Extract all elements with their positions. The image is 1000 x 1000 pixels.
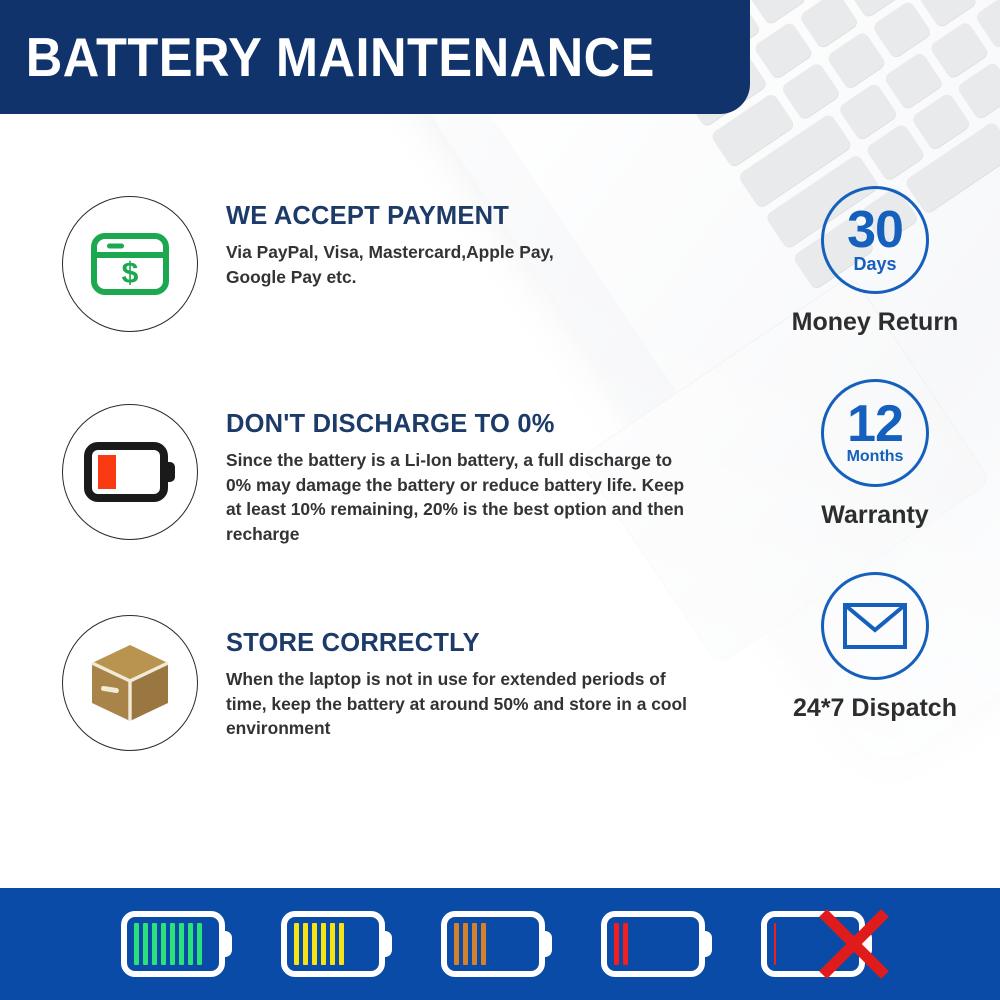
- badge-number: 12: [847, 401, 903, 448]
- feature-title: DON'T DISCHARGE TO 0%: [226, 410, 696, 439]
- battery-terminal: [379, 931, 392, 957]
- battery-low-icon: [601, 911, 719, 977]
- feature-title: WE ACCEPT PAYMENT: [226, 202, 606, 231]
- battery-shell: [441, 911, 545, 977]
- feature-description: Since the battery is a Li-Ion battery, a…: [226, 448, 696, 547]
- battery-high-icon: [281, 911, 399, 977]
- battery-bar: [463, 923, 468, 965]
- battery-critical-icon: [761, 911, 879, 977]
- badge-label: Warranty: [750, 501, 1000, 530]
- badge-circle-dispatch: [821, 572, 929, 680]
- battery-bar: [303, 923, 308, 965]
- battery-terminal: [699, 931, 712, 957]
- payment-icon-circle: $: [62, 196, 198, 332]
- feature-list: $ WE ACCEPT PAYMENT Via PayPal, Visa, Ma…: [0, 130, 700, 751]
- battery-terminal: [219, 931, 232, 957]
- battery-bar: [614, 923, 619, 965]
- battery-bar: [454, 923, 459, 965]
- feature-description: Via PayPal, Visa, Mastercard,Apple Pay, …: [226, 240, 606, 289]
- battery-shell: [281, 911, 385, 977]
- storage-icon-circle: [62, 615, 198, 751]
- battery-bar: [188, 923, 193, 965]
- battery-bar: [161, 923, 166, 965]
- battery-bar: [481, 923, 486, 965]
- discharge-icon-circle: [62, 404, 198, 540]
- battery-bar: [330, 923, 335, 965]
- feature-text-discharge: DON'T DISCHARGE TO 0% Since the battery …: [198, 404, 696, 547]
- battery-bar: [134, 923, 139, 965]
- badge-money-return: 30 Days Money Return: [750, 186, 1000, 337]
- cardboard-box-icon: [84, 637, 176, 729]
- low-battery-icon: [84, 441, 176, 503]
- feature-text-storage: STORE CORRECTLY When the laptop is not i…: [198, 615, 691, 741]
- envelope-icon: [842, 602, 908, 650]
- battery-bar: [294, 923, 299, 965]
- feature-item-storage: STORE CORRECTLY When the laptop is not i…: [0, 615, 700, 751]
- feature-text-payment: WE ACCEPT PAYMENT Via PayPal, Visa, Mast…: [198, 192, 606, 289]
- badge-number: 30: [847, 207, 903, 254]
- battery-full-icon: [121, 911, 239, 977]
- badge-dispatch: 24*7 Dispatch: [750, 572, 1000, 723]
- badge-circle-12-months: 12 Months: [821, 379, 929, 487]
- feature-title: STORE CORRECTLY: [226, 629, 691, 658]
- page-title: BATTERY MAINTENANCE: [0, 25, 655, 89]
- battery-terminal: [859, 931, 872, 957]
- battery-bar: [623, 923, 628, 965]
- badge-unit: Months: [847, 449, 904, 465]
- badge-label: 24*7 Dispatch: [750, 694, 1000, 723]
- badge-circle-30-days: 30 Days: [821, 186, 929, 294]
- battery-bar: [152, 923, 157, 965]
- guarantee-badges: 30 Days Money Return 12 Months Warranty …: [750, 186, 1000, 723]
- battery-bar: [143, 923, 148, 965]
- battery-shell: [121, 911, 225, 977]
- battery-bar: [774, 923, 776, 965]
- battery-medium-icon: [441, 911, 559, 977]
- battery-shell: [761, 911, 865, 977]
- battery-terminal: [539, 931, 552, 957]
- battery-bar: [197, 923, 202, 965]
- badge-unit: Days: [853, 255, 896, 273]
- feature-item-discharge: DON'T DISCHARGE TO 0% Since the battery …: [0, 404, 700, 547]
- battery-shell: [601, 911, 705, 977]
- battery-bar: [472, 923, 477, 965]
- battery-bar: [170, 923, 175, 965]
- battery-bar: [179, 923, 184, 965]
- svg-text:$: $: [122, 257, 139, 290]
- badge-label: Money Return: [750, 308, 1000, 337]
- battery-bar: [339, 923, 344, 965]
- wallet-dollar-icon: $: [90, 232, 170, 296]
- battery-bar: [321, 923, 326, 965]
- feature-description: When the laptop is not in use for extend…: [226, 667, 691, 741]
- battery-level-strip: [0, 888, 1000, 1000]
- page-header-banner: BATTERY MAINTENANCE: [0, 0, 750, 114]
- feature-item-payment: $ WE ACCEPT PAYMENT Via PayPal, Visa, Ma…: [0, 192, 700, 332]
- battery-bar: [312, 923, 317, 965]
- badge-warranty: 12 Months Warranty: [750, 379, 1000, 530]
